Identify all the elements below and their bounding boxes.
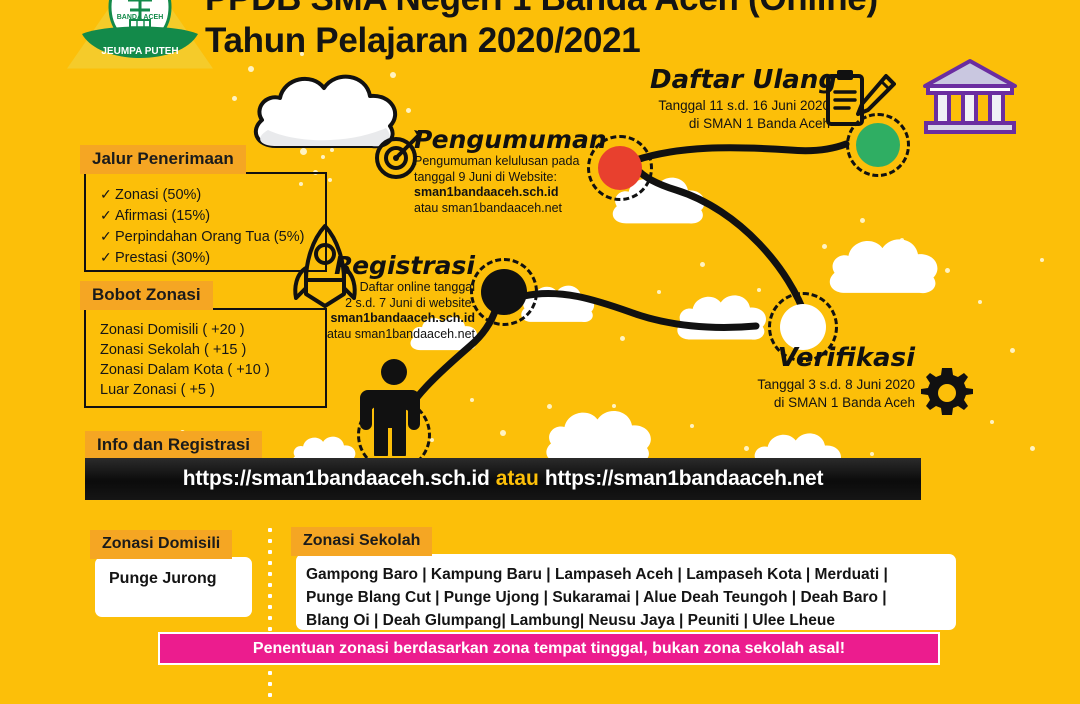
step-registrasi-url2: atau sman1bandaaceh.net — [300, 327, 475, 343]
step-daftar-ulang-line1: Tanggal 11 s.d. 16 Juni 2020 — [650, 97, 830, 115]
step-pengumuman-line2: tanggal 9 Juni di Website: — [414, 170, 594, 186]
list-item: Zonasi Dalam Kota ( +10 ) — [100, 360, 315, 380]
list-item: ✓Zonasi (50%) — [100, 184, 315, 205]
gear-icon — [920, 366, 974, 425]
check-icon: ✓ — [100, 226, 115, 246]
zonasi-sekolah-row: Punge Blang Cut | Punge Ujong | Sukarama… — [306, 586, 946, 609]
url-secondary[interactable]: https://sman1bandaaceh.net — [545, 467, 823, 491]
logo-text-bottom: JEUMPA PUTEH — [101, 46, 178, 57]
school-logo: NEGERI-1 BANDA ACEH JEUMPA PUTEH — [60, 0, 220, 80]
step-verifikasi-line1: Tanggal 3 s.d. 8 Juni 2020 — [740, 376, 915, 394]
footer-note-text: Penentuan zonasi berdasarkan zona tempat… — [253, 640, 845, 658]
info-registrasi-heading: Info dan Registrasi — [85, 431, 262, 460]
step-pengumuman-url1: sman1bandaaceh.sch.id — [414, 185, 594, 201]
dotted-divider — [268, 528, 272, 704]
zonasi-sekolah-card: Gampong Baro | Kampung Baru | Lampaseh A… — [296, 554, 956, 630]
zonasi-domisili-item: Punge Jurong — [109, 567, 238, 590]
infographic-canvas: NEGERI-1 BANDA ACEH JEUMPA PUTEH PPDB SM… — [0, 0, 1080, 675]
check-icon: ✓ — [100, 184, 115, 204]
title-line-2: Tahun Pelajaran 2020/2021 — [205, 20, 945, 62]
zonasi-sekolah-row: Blang Oi | Deah Glumpang| Lambung| Neusu… — [306, 609, 946, 632]
title-line-1: PPDB SMA Negeri 1 Banda Aceh (Online) — [205, 0, 878, 18]
cloud-icon — [668, 286, 776, 342]
rocket-icon — [292, 222, 358, 319]
step-verifikasi-title: Verifikasi — [740, 344, 915, 372]
list-item: ✓Prestasi (30%) — [100, 247, 315, 268]
clipboard-pencil-icon — [824, 68, 896, 135]
cloud-icon — [818, 228, 950, 296]
jalur-penerimaan-box: ✓Zonasi (50%) ✓Afirmasi (15%) ✓Perpindah… — [84, 172, 327, 272]
url-primary[interactable]: https://sman1bandaaceh.sch.id — [183, 467, 490, 491]
step-verifikasi: Verifikasi Tanggal 3 s.d. 8 Juni 2020 di… — [740, 344, 915, 412]
bobot-zonasi-box: Zonasi Domisili ( +20 ) Zonasi Sekolah (… — [84, 308, 327, 408]
check-icon: ✓ — [100, 247, 115, 267]
list-item: Zonasi Domisili ( +20 ) — [100, 320, 315, 340]
step-pengumuman-line1: Pengumuman kelulusan pada — [414, 154, 594, 170]
check-icon: ✓ — [100, 205, 115, 225]
footer-note-banner: Penentuan zonasi berdasarkan zona tempat… — [158, 632, 940, 665]
school-building-icon — [922, 58, 1018, 143]
list-item: Luar Zonasi ( +5 ) — [100, 380, 315, 400]
step-verifikasi-line2: di SMAN 1 Banda Aceh — [740, 394, 915, 412]
url-separator: atau — [496, 467, 539, 491]
person-icon — [356, 358, 432, 461]
list-item: ✓Perpindahan Orang Tua (5%) — [100, 226, 315, 247]
bobot-zonasi-heading: Bobot Zonasi — [80, 281, 213, 310]
zonasi-domisili-heading: Zonasi Domisili — [90, 530, 232, 559]
zonasi-sekolah-row: Gampong Baro | Kampung Baru | Lampaseh A… — [306, 563, 946, 586]
page-title: PPDB SMA Negeri 1 Banda Aceh (Online) Ta… — [205, 0, 945, 62]
jalur-penerimaan-heading: Jalur Penerimaan — [80, 145, 246, 174]
step-daftar-ulang-title: Daftar Ulang — [650, 66, 830, 94]
list-item: ✓Afirmasi (15%) — [100, 205, 315, 226]
step-pengumuman: Pengumuman Pengumuman kelulusan pada tan… — [414, 126, 594, 216]
node-registrasi — [481, 269, 527, 315]
step-pengumuman-title: Pengumuman — [414, 126, 594, 154]
zonasi-sekolah-heading: Zonasi Sekolah — [291, 527, 432, 556]
cloud-icon — [534, 400, 664, 466]
zonasi-domisili-card: Punge Jurong — [95, 557, 252, 617]
step-pengumuman-url2: atau sman1bandaaceh.net — [414, 201, 594, 217]
step-daftar-ulang: Daftar Ulang Tanggal 11 s.d. 16 Juni 202… — [650, 66, 830, 133]
target-icon — [372, 128, 424, 185]
list-item: Zonasi Sekolah ( +15 ) — [100, 340, 315, 360]
step-daftar-ulang-line2: di SMAN 1 Banda Aceh — [650, 115, 830, 133]
website-url-bar[interactable]: https://sman1bandaaceh.sch.id atau https… — [85, 458, 921, 500]
